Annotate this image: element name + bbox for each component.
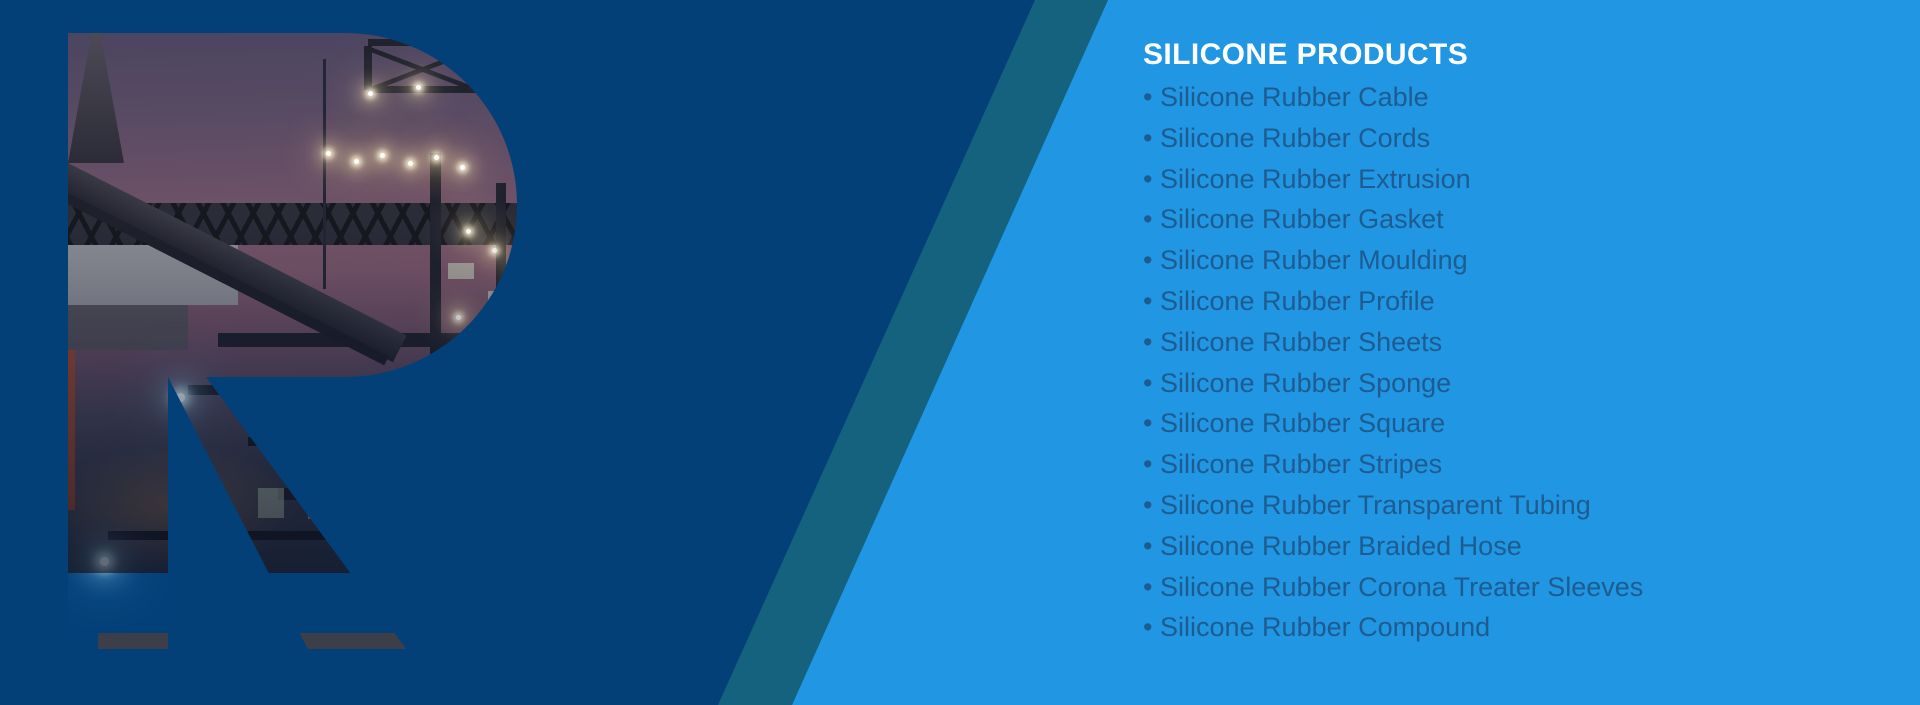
- product-list: •Silicone Rubber Cable •Silicone Rubber …: [1143, 77, 1883, 648]
- products-content: SILICONE PRODUCTS •Silicone Rubber Cable…: [1143, 38, 1883, 648]
- bullet-icon: •: [1143, 363, 1160, 404]
- list-item: •Silicone Rubber Stripes: [1143, 444, 1883, 485]
- list-item: •Silicone Rubber Moulding: [1143, 240, 1883, 281]
- bullet-icon: •: [1143, 485, 1160, 526]
- list-item: •Silicone Rubber Profile: [1143, 281, 1883, 322]
- bullet-icon: •: [1143, 281, 1160, 322]
- list-item: •Silicone Rubber Gasket: [1143, 199, 1883, 240]
- bullet-icon: •: [1143, 118, 1160, 159]
- industrial-plant-photo: [68, 33, 650, 573]
- list-item-label: Silicone Rubber Cable: [1160, 82, 1429, 112]
- list-item-label: Silicone Rubber Sponge: [1160, 368, 1451, 398]
- list-item-label: Silicone Rubber Corona Treater Sleeves: [1160, 572, 1643, 602]
- list-item-label: Silicone Rubber Gasket: [1160, 204, 1444, 234]
- bullet-icon: •: [1143, 526, 1160, 567]
- list-item: •Silicone Rubber Corona Treater Sleeves: [1143, 567, 1883, 608]
- list-item: •Silicone Rubber Extrusion: [1143, 159, 1883, 200]
- list-item-label: Silicone Rubber Sheets: [1160, 327, 1442, 357]
- list-item: •Silicone Rubber Compound: [1143, 607, 1883, 648]
- bullet-icon: •: [1143, 240, 1160, 281]
- bullet-icon: •: [1143, 77, 1160, 118]
- list-item: •Silicone Rubber Square: [1143, 403, 1883, 444]
- bullet-icon: •: [1143, 607, 1160, 648]
- list-item-label: Silicone Rubber Moulding: [1160, 245, 1468, 275]
- list-item: •Silicone Rubber Cable: [1143, 77, 1883, 118]
- list-item: •Silicone Rubber Cords: [1143, 118, 1883, 159]
- list-item-label: Silicone Rubber Profile: [1160, 286, 1435, 316]
- list-item-label: Silicone Rubber Square: [1160, 408, 1445, 438]
- bullet-icon: •: [1143, 444, 1160, 485]
- bullet-icon: •: [1143, 199, 1160, 240]
- list-item-label: Silicone Rubber Transparent Tubing: [1160, 490, 1591, 520]
- photo-shadow-gradient: [68, 33, 650, 573]
- bullet-icon: •: [1143, 403, 1160, 444]
- list-item-label: Silicone Rubber Braided Hose: [1160, 531, 1522, 561]
- list-item: •Silicone Rubber Sheets: [1143, 322, 1883, 363]
- list-item: •Silicone Rubber Braided Hose: [1143, 526, 1883, 567]
- silicone-products-banner: SILICONE PRODUCTS •Silicone Rubber Cable…: [0, 0, 1920, 705]
- bullet-icon: •: [1143, 322, 1160, 363]
- plant-deck: [98, 633, 650, 649]
- list-item-label: Silicone Rubber Compound: [1160, 612, 1490, 642]
- list-item-label: Silicone Rubber Cords: [1160, 123, 1430, 153]
- list-item: •Silicone Rubber Sponge: [1143, 363, 1883, 404]
- letter-r-photo-stage: [68, 33, 650, 678]
- list-item: •Silicone Rubber Transparent Tubing: [1143, 485, 1883, 526]
- bullet-icon: •: [1143, 567, 1160, 608]
- list-item-label: Silicone Rubber Stripes: [1160, 449, 1442, 479]
- list-item-label: Silicone Rubber Extrusion: [1160, 164, 1471, 194]
- bullet-icon: •: [1143, 159, 1160, 200]
- page-title: SILICONE PRODUCTS: [1143, 38, 1883, 71]
